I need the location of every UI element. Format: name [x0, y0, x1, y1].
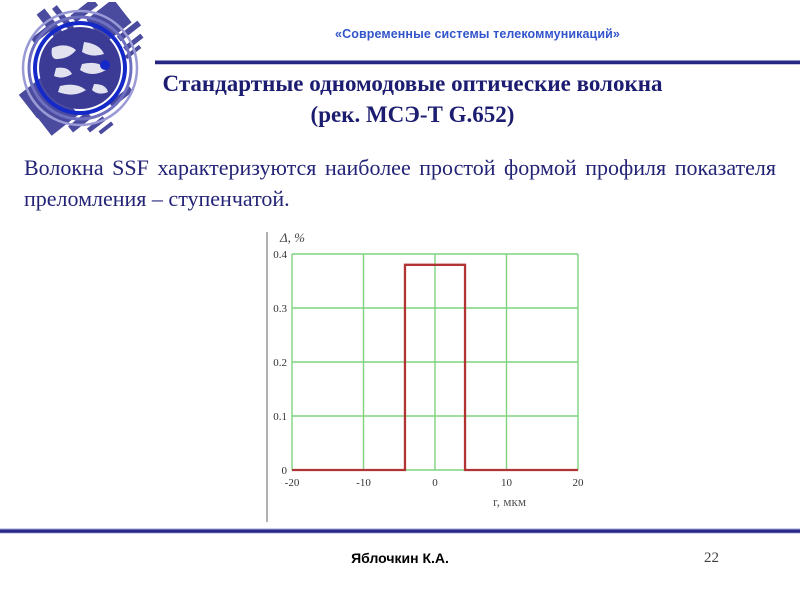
chart-plot-area: -20-1001020 00.10.20.30.4 — [268, 232, 598, 497]
x-tick-label: 20 — [573, 477, 585, 489]
page-title: Стандартные одномодовые оптические волок… — [140, 68, 685, 130]
page-number: 22 — [704, 550, 744, 567]
y-tick-label: 0.2 — [273, 357, 287, 369]
body-paragraph: Волокна SSF характеризуются наиболее про… — [24, 152, 776, 214]
x-tick-label: -20 — [285, 477, 300, 489]
page-title-line-2: (рек. МСЭ-Т G.652) — [140, 99, 685, 130]
footer-author: Яблочкин К.А. — [0, 550, 800, 566]
y-tick-label: 0.1 — [273, 411, 287, 423]
presentation-subtitle: «Современные системы телекоммуникаций» — [155, 27, 800, 41]
chart-y-tick-labels: 00.10.20.30.4 — [273, 249, 287, 477]
x-tick-label: 0 — [432, 477, 438, 489]
globe-logo — [12, 2, 152, 142]
page-title-line-1: Стандартные одномодовые оптические волок… — [140, 68, 685, 99]
x-tick-label: -10 — [356, 477, 371, 489]
refractive-index-profile-chart: Δ, % -20-1001020 00.10.20.30.4 r, мкм — [266, 232, 598, 522]
y-tick-label: 0.4 — [273, 249, 287, 261]
chart-x-tick-labels: -20-1001020 — [285, 477, 584, 489]
chart-gridlines — [292, 254, 578, 470]
chart-x-axis-label: r, мкм — [493, 494, 526, 510]
footer-divider — [0, 528, 800, 534]
y-tick-label: 0 — [282, 465, 288, 477]
y-tick-label: 0.3 — [273, 303, 287, 315]
chart-x-axis-label-text: r, мкм — [493, 494, 526, 509]
x-tick-label: 10 — [501, 477, 513, 489]
header-divider — [155, 60, 800, 65]
